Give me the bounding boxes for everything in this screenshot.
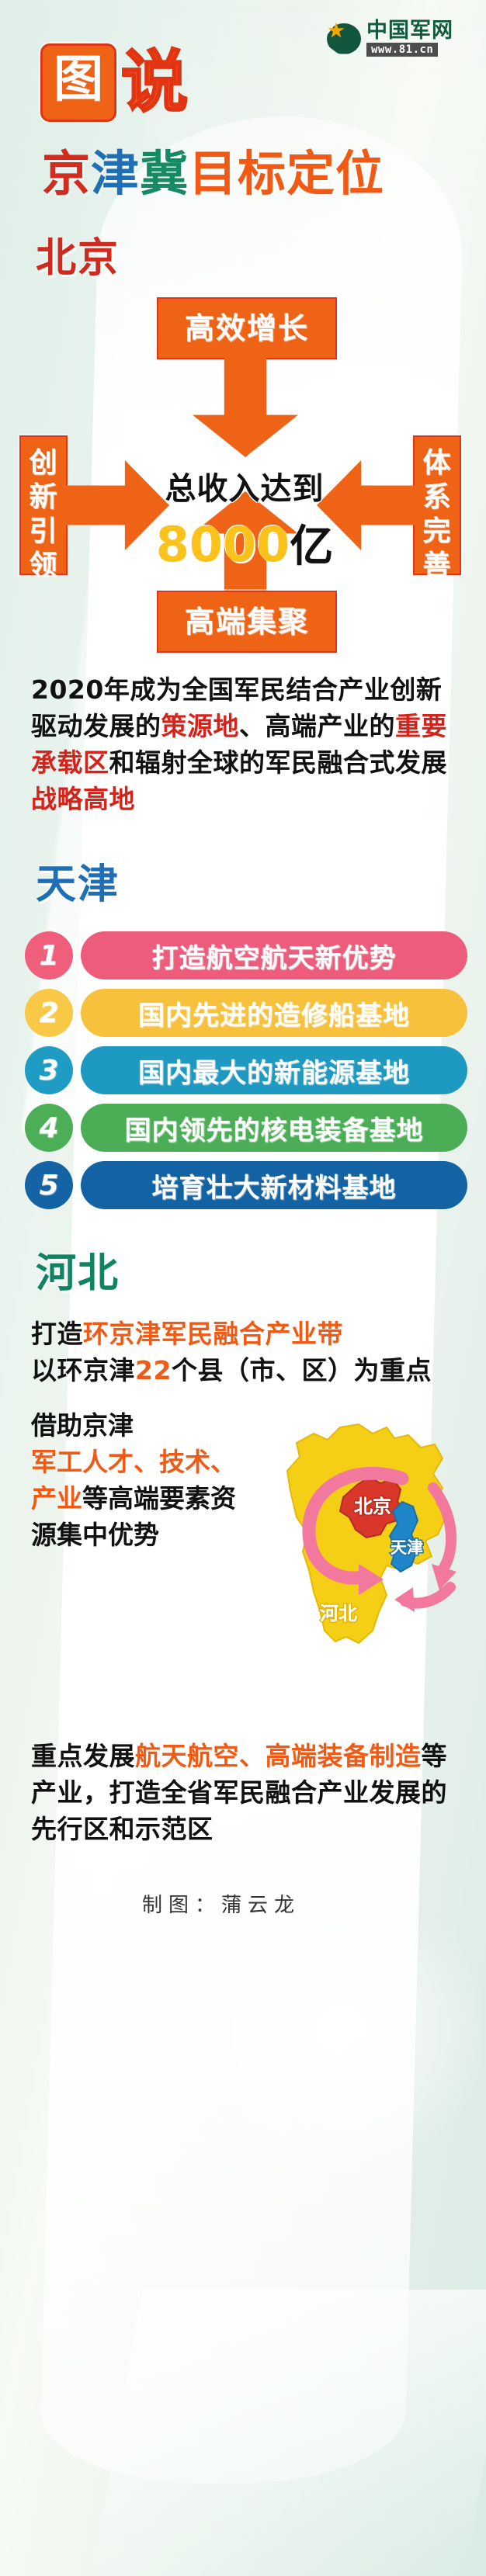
page-title: 京津冀目标定位 <box>42 144 486 203</box>
hb1-text-2: 以环京津 <box>31 1355 135 1385</box>
bj-highlight-1: 策源地 <box>161 711 240 741</box>
hebei-paragraph-2: 借助京津军工人才、技术、产业等高端要素资源集中优势 <box>31 1407 241 1553</box>
logo-url: www.81.cn <box>366 43 438 57</box>
hb3-highlight-1: 航天航空、高端装备制造 <box>135 1741 422 1771</box>
list-item-number: 3 <box>25 1046 73 1094</box>
list-item[interactable]: 1 打造航空航天新优势 <box>25 931 467 979</box>
list-item-number: 1 <box>25 931 73 979</box>
bj-text-3: 和辐射全球的军民融合式发展 <box>109 747 448 778</box>
list-item-label: 国内最大的新能源基地 <box>81 1046 467 1094</box>
list-item[interactable]: 4 国内领先的核电装备基地 <box>25 1104 467 1152</box>
list-item-label: 打造航空航天新优势 <box>81 931 467 979</box>
list-item-number: 5 <box>25 1161 73 1209</box>
hb3-text-1: 重点发展 <box>31 1741 135 1771</box>
background-sweep-e <box>90 2290 486 2576</box>
map-flow-arrow-head-inward <box>394 1587 415 1612</box>
diagram-box-top: 高效增长 <box>157 297 337 359</box>
infographic-page: 图 说 中国军网 www.81.cn 京津冀目标定位 北京 高效增长 <box>0 0 486 2576</box>
section-heading-tianjin: 天津 <box>36 851 486 910</box>
list-item-label: 国内先进的造修船基地 <box>81 989 467 1037</box>
bj-text-2: 、高端产业的 <box>239 711 395 741</box>
brand-box-tu: 图 <box>40 43 116 122</box>
diagram-center-unit: 亿 <box>290 522 333 572</box>
diagram-center-label: 总收入达到 8000亿 <box>116 463 373 574</box>
pla-star-swoosh-icon <box>325 22 363 56</box>
brand-text-shuo: 说 <box>121 46 186 120</box>
diagram-center-line1: 总收入达到 <box>116 463 373 508</box>
hebei-paragraph-1: 打造环京津军民融合产业带以环京津22个县（市、区）为重点 <box>31 1316 458 1389</box>
title-char-jing: 京 <box>42 145 91 202</box>
logo-name: 中国军网 <box>366 20 453 41</box>
map-svg: 北京 北京 天津 天津 河北 河北 <box>242 1404 475 1676</box>
arrow-down-icon <box>193 352 298 457</box>
jingjinji-map: 北京 北京 天津 天津 河北 河北 <box>242 1404 475 1676</box>
bj-highlight-3: 战略高地 <box>31 784 135 814</box>
credit-line: 制图：蒲云龙 <box>0 1889 486 1918</box>
beijing-goal-diagram: 高效增长 创新引领 体系完善 高端集聚 总收入达到 8000亿 <box>0 294 486 651</box>
page-header: 图 说 中国军网 www.81.cn <box>0 0 486 138</box>
list-item-number: 2 <box>25 989 73 1037</box>
list-item-label: 培育壮大新材料基地 <box>81 1161 467 1209</box>
title-char-ji: 冀 <box>140 145 189 202</box>
diagram-box-bottom: 高端集聚 <box>157 591 337 653</box>
brand-tushuo: 图 说 <box>40 43 186 122</box>
tianjin-goal-list: 1 打造航空航天新优势 2 国内先进的造修船基地 3 国内最大的新能源基地 4 … <box>0 931 486 1209</box>
list-item[interactable]: 2 国内先进的造修船基地 <box>25 989 467 1037</box>
diagram-center-number: 8000 <box>156 516 290 573</box>
section-heading-hebei: 河北 <box>36 1240 486 1298</box>
list-item-label: 国内领先的核电装备基地 <box>81 1104 467 1152</box>
diagram-box-left: 创新引领 <box>19 435 68 575</box>
map-label-tianjin-fill: 天津 <box>391 1538 423 1557</box>
hb2-text-1: 借助京津 <box>31 1410 134 1441</box>
list-item-number: 4 <box>25 1104 73 1152</box>
hb1-highlight-1: 环京津军民融合产业带 <box>83 1319 343 1349</box>
hebei-map-block: 借助京津军工人才、技术、产业等高端要素资源集中优势 <box>0 1402 486 1736</box>
list-item[interactable]: 5 培育壮大新材料基地 <box>25 1161 467 1209</box>
section-heading-beijing: 北京 <box>36 225 486 283</box>
hb1-highlight-2: 22 <box>135 1355 172 1385</box>
hb1-text-3: 个县（市、区）为重点 <box>172 1355 432 1385</box>
list-item[interactable]: 3 国内最大的新能源基地 <box>25 1046 467 1094</box>
map-label-beijing-fill: 北京 <box>354 1496 391 1517</box>
site-logo[interactable]: 中国军网 www.81.cn <box>325 20 453 57</box>
hb1-text-1: 打造 <box>31 1319 83 1349</box>
title-char-jin: 津 <box>91 145 140 202</box>
map-label-hebei-fill: 河北 <box>320 1603 357 1624</box>
hebei-paragraph-3: 重点发展航天航空、高端装备制造等产业，打造全省军民融合产业发展的先行区和示范区 <box>31 1738 458 1847</box>
beijing-paragraph: 2020年成为全国军民结合产业创新驱动发展的策源地、高端产业的重要承载区和辐射全… <box>31 671 458 817</box>
title-rest: 目标定位 <box>189 145 384 202</box>
